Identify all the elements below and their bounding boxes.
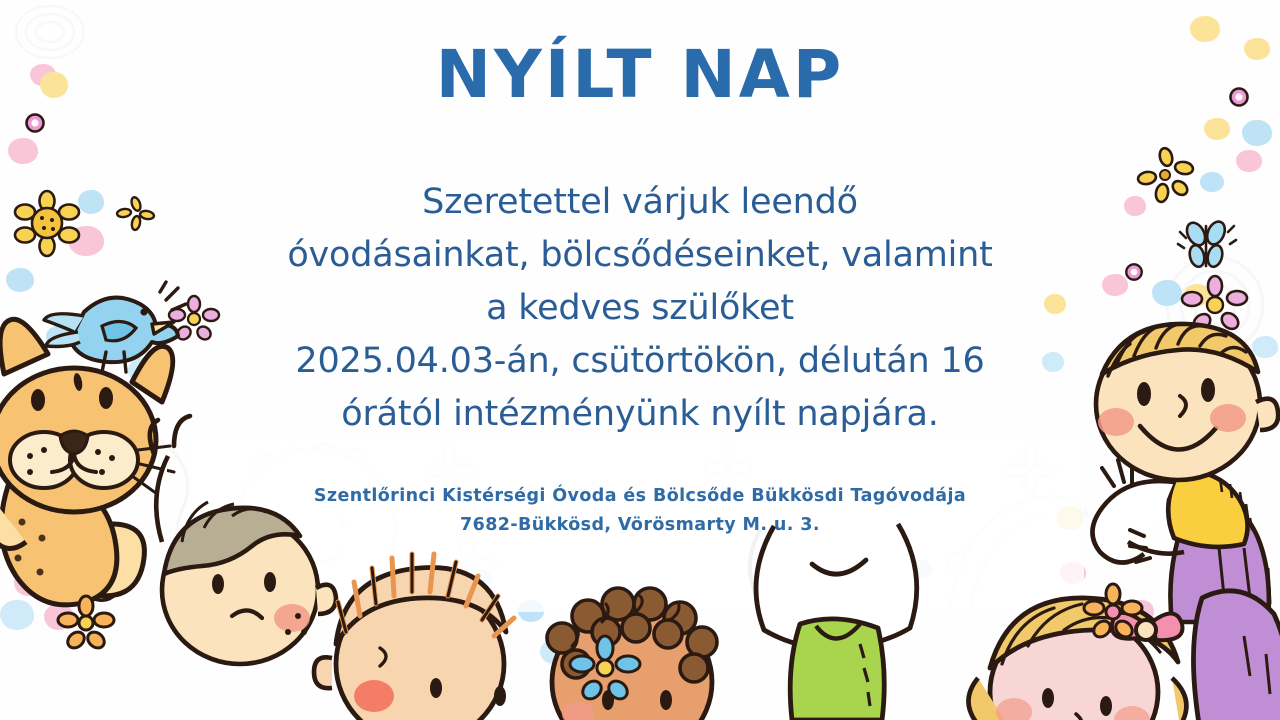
address-line: 7682-Bükkösd, Vörösmarty M. u. 3. — [0, 511, 1280, 540]
flower-icon — [1084, 584, 1142, 642]
body-line: Szeretettel várjuk leendő — [0, 176, 1280, 229]
confetti-dot — [8, 138, 38, 164]
body-line: 2025.04.03-án, csütörtökön, délután 16 — [0, 335, 1280, 388]
confetti-dot — [1190, 16, 1220, 42]
institution-address: Szentlőrinci Kistérségi Óvoda és Bölcsőd… — [0, 482, 1280, 540]
confetti-dot — [1204, 118, 1230, 140]
child-purple-sleeve — [1188, 580, 1280, 720]
ring-dot-icon — [24, 112, 46, 134]
child-orange-hair — [310, 548, 540, 720]
body-line: óvodásainkat, bölcsődéseinket, valamint — [0, 229, 1280, 282]
poster-canvas: NYÍLT NAP Szeretettel várjuk leendő óvod… — [0, 0, 1280, 720]
confetti-dot — [1242, 120, 1272, 146]
child-green-tank — [700, 520, 950, 720]
invitation-body: Szeretettel várjuk leendő óvodásainkat, … — [0, 176, 1280, 441]
body-line: a kedves szülőket — [0, 282, 1280, 335]
address-line: Szentlőrinci Kistérségi Óvoda és Bölcsőd… — [0, 482, 1280, 511]
page-title: NYÍLT NAP — [0, 42, 1280, 108]
flower-icon — [570, 636, 640, 706]
body-line: órától intézményünk nyílt napjára. — [0, 388, 1280, 441]
confetti-dot — [1236, 150, 1262, 172]
child-blonde-bow — [956, 586, 1206, 720]
flower-icon — [58, 596, 114, 652]
